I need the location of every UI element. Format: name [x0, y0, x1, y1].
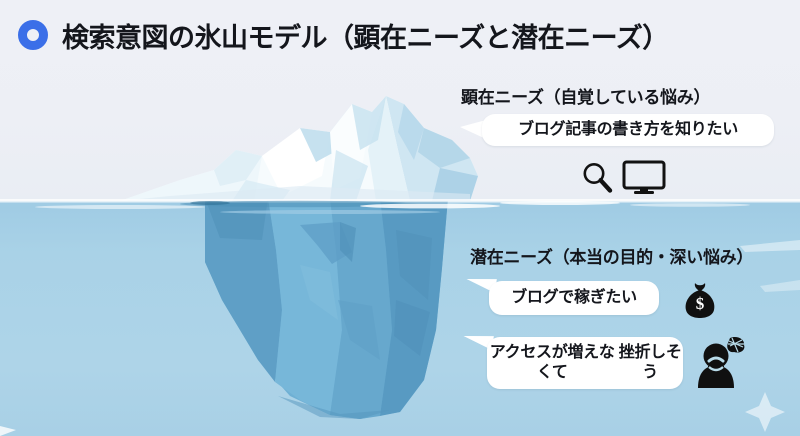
money-bag-icon: $ — [682, 281, 718, 319]
latent-needs-heading: 潜在ニーズ（本当の目的・深い悩み） — [470, 243, 753, 268]
frustrated-person-icon — [688, 336, 746, 390]
sparkle-icon — [745, 392, 785, 432]
blue-ring-icon — [18, 20, 48, 50]
explicit-needs-heading: 顕在ニーズ（自覚している悩み） — [461, 83, 710, 108]
bubble-line-1: アクセスが増えなくて — [487, 343, 617, 383]
latent-need-bubble-money: ブログで稼ぎたい — [489, 281, 659, 315]
page-title: 検索意図の氷山モデル（顕在ニーズと潜在ニーズ） — [62, 16, 669, 55]
monitor-icon — [622, 160, 666, 194]
infographic-canvas: 検索意図の氷山モデル（顕在ニーズと潜在ニーズ） 顕在ニーズ（自覚している悩み） … — [0, 0, 800, 436]
explicit-need-bubble: ブログ記事の書き方を知りたい — [482, 114, 774, 146]
search-icon — [580, 160, 614, 194]
latent-need-bubble-failure: アクセスが増えなくて 挫折しそう — [487, 337, 683, 389]
header-bar: 検索意図の氷山モデル（顕在ニーズと潜在ニーズ） — [0, 0, 800, 70]
bubble-line-2: 挫折しそう — [617, 343, 683, 383]
svg-text:$: $ — [696, 294, 705, 313]
